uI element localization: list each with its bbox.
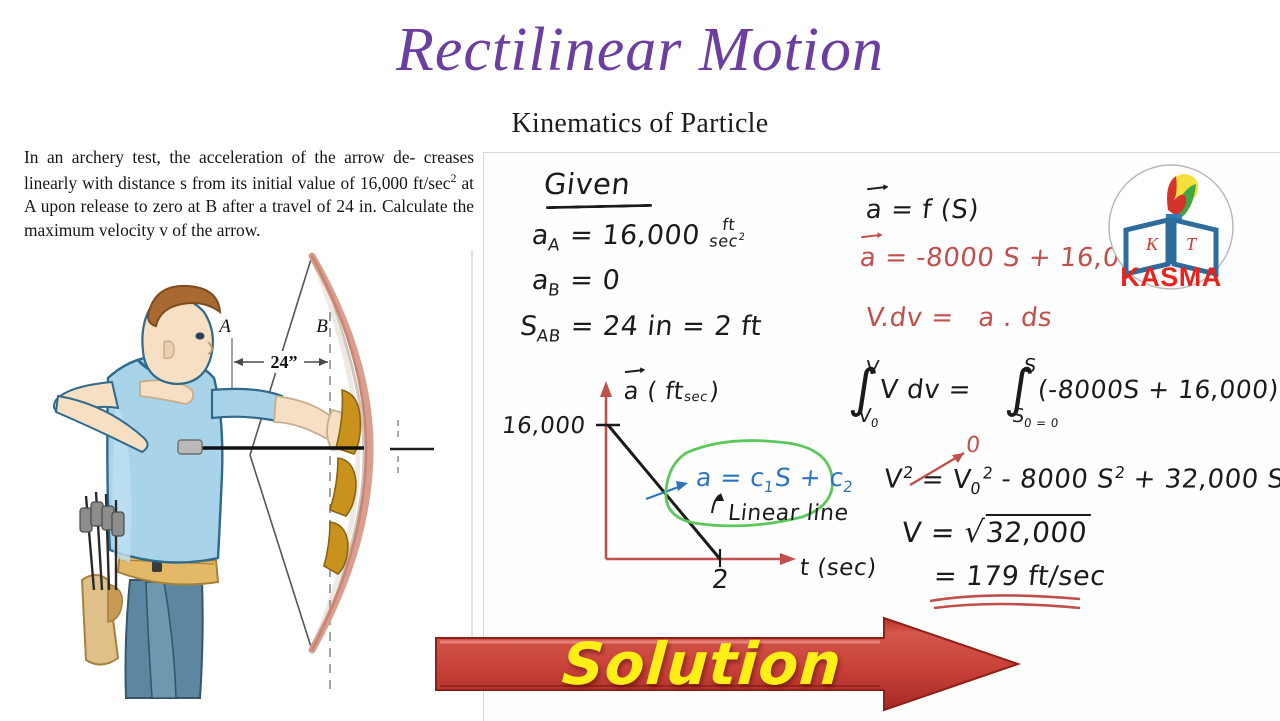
vector-a-2: a [858,243,878,273]
a-subscript-A: A [547,235,561,255]
problem-line-5: of the arrow. [172,220,260,240]
archer-illustration: A B 24” [12,250,482,710]
given-heading: Given [542,167,632,201]
eq3-lhs: V.dv = [864,303,955,333]
page-subtitle: Kinematics of Particle [0,108,1280,140]
eq1-rhs: = f (S) [890,195,981,225]
derivation-eq-1: a = f (S) [864,195,980,225]
graph-y-tick-label: 16,000 [501,413,587,439]
logo-letter-k: K [1145,234,1159,254]
graph-x-axis-label: t (sec) [799,555,878,581]
acceleration-graph: a ( ftsec) 16,000 2 t (sec) a = c1S + c2… [488,369,908,629]
solution-arrow-shape [432,616,1022,712]
derivation-result-2: V = √32,000 [900,515,1091,550]
figure-label-b: B [316,316,328,337]
graph-svg [488,369,908,629]
archer-figure: A B 24” [12,250,482,710]
a-subscript-B: B [547,279,561,299]
s-subscript-AB: AB [536,325,562,345]
a-A-units: ft sec2 [708,217,747,250]
integral-right-body: (-8000S + 16,000) ds [1036,375,1280,404]
a-A-value: = 16,000 [568,220,701,251]
problem-line-1: In an archery test, the acceleration of … [24,147,415,167]
s-value: = 24 in = 2 ft [569,311,763,342]
derivation-result-3: = 179 ft/sec [932,561,1107,592]
graph-annotation-equation: a = c1S + c2 [694,463,856,496]
integral-right-lower: S0 = 0 [1011,405,1061,430]
derivation-eq-3: V.dv = a . ds [864,303,1053,333]
page-title: Rectilinear Motion [0,18,1280,83]
cancel-zero-label: 0 [965,433,982,458]
kasma-logo: K T KASMA [1096,152,1246,302]
graph-y-axis-label: a ( ftsec) [623,377,721,405]
graph-annotation-note: Linear line [727,501,850,526]
figure-dimension-label: 24” [271,352,298,372]
logo-wordmark: KASMA [1120,262,1222,292]
given-line-a-A: aA = 16,000 ft sec2 [530,217,749,255]
eq3-rhs: a . ds [977,303,1054,333]
slide-canvas: Rectilinear Motion Kinematics of Particl… [0,0,1280,720]
solution-banner[interactable]: Solution [432,616,1022,712]
a-B-value: = 0 [569,265,622,296]
integral-right-upper: S [1023,355,1038,377]
final-answer-underline [924,589,1144,615]
derivation-integral-row: ∫ V V0 V dv = ∫ S S0 = 0 (-8000S + 16,00… [850,361,1270,441]
given-line-a-B: aB = 0 [530,265,622,299]
given-line-s-AB: SAB = 24 in = 2 ft [518,311,763,345]
problem-statement: In an archery test, the acceleration of … [24,146,474,243]
graph-x-tick-label: 2 [710,565,730,595]
kasma-logo-svg: K T KASMA [1096,152,1246,302]
problem-line-3: of 16,000 ft/sec [340,173,450,193]
given-heading-underline [546,204,652,209]
vector-a-1: a [864,195,884,225]
figure-label-a: A [217,316,231,337]
cancel-v0-mark [902,439,1022,493]
